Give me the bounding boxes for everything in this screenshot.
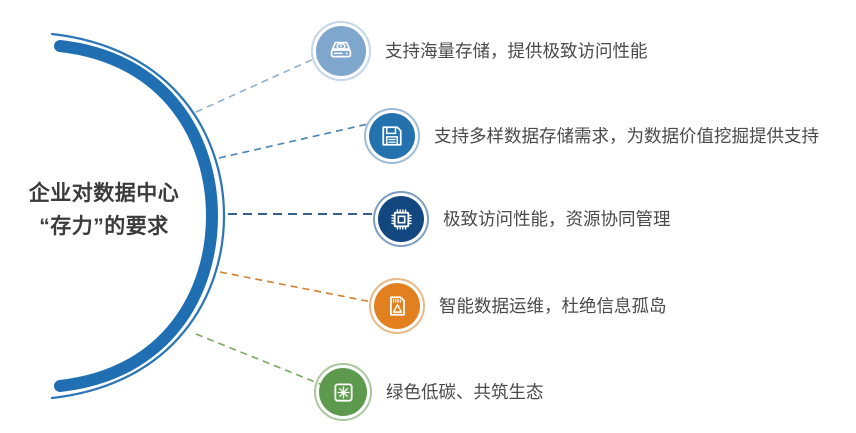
floppy-disk-save-icon [378,122,406,150]
list-item-2[interactable]: 支持多样数据存储需求，为数据价值挖掘提供支持 [364,108,819,164]
infographic-canvas: 企业对数据中心 “存力”的要求 支持海量存储，提供极致访问性能 [0,0,856,433]
connector-line-2 [219,124,368,158]
title-line-2: “存力”的要求 [6,211,202,244]
badge-5-disc [319,368,367,416]
badge-3-disc [378,196,424,242]
list-item-1[interactable]: 支持海量存储，提供极致访问性能 [311,21,648,81]
badge-1 [311,21,371,81]
title-line-1: 企业对数据中心 [6,178,202,211]
badge-5 [314,363,372,421]
connector-line-4 [220,272,372,302]
list-item-2-label: 支持多样数据存储需求，为数据价值挖掘提供支持 [434,126,819,147]
list-item-3-label: 极致访问性能，资源协同管理 [443,209,671,230]
sd-memory-card-icon [383,292,411,320]
badge-2-disc [369,113,415,159]
list-item-4[interactable]: 智能数据运维，杜绝信息孤岛 [369,278,667,334]
center-title: 企业对数据中心 “存力”的要求 [6,178,202,243]
list-item-5[interactable]: 绿色低碳、共筑生态 [314,363,544,421]
hard-disk-storage-icon [326,36,356,66]
badge-3 [373,191,429,247]
badge-4-disc [374,283,420,329]
connector-line-5 [196,334,330,388]
list-item-4-label: 智能数据运维，杜绝信息孤岛 [439,296,667,317]
badge-1-disc [316,26,366,76]
cpu-chip-icon [387,205,416,234]
badge-2 [364,108,420,164]
list-item-3[interactable]: 极致访问性能，资源协同管理 [373,191,671,247]
connector-line-1 [196,57,318,112]
list-item-1-label: 支持海量存储，提供极致访问性能 [385,41,648,62]
cooling-fan-icon [329,378,358,407]
list-item-5-label: 绿色低碳、共筑生态 [386,382,544,403]
badge-4 [369,278,425,334]
